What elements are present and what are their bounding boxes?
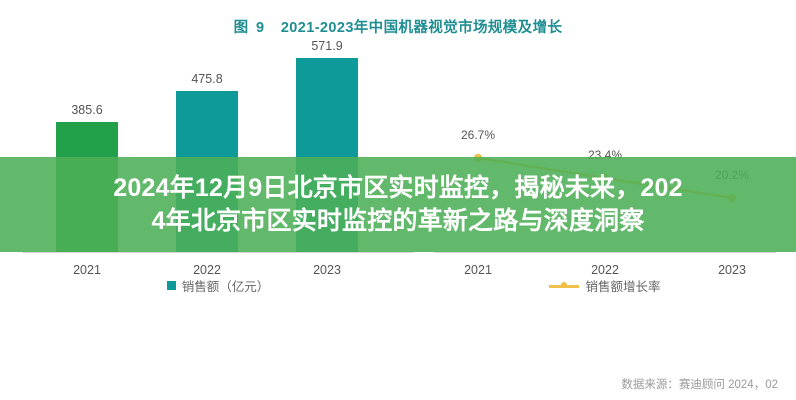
line-xtick-2022: 2022 bbox=[560, 263, 650, 277]
bar-value-2021: 385.6 bbox=[42, 103, 132, 117]
bar-value-2022: 475.8 bbox=[162, 72, 252, 86]
bar-xtick-2022: 2022 bbox=[162, 263, 252, 277]
bar-legend-swatch-icon bbox=[167, 281, 176, 290]
line-legend-swatch-icon bbox=[549, 281, 579, 290]
line-xtick-2023: 2023 bbox=[687, 263, 777, 277]
line-xtick-2021: 2021 bbox=[433, 263, 523, 277]
chart-page: 图 9 2021-2023年中国机器视觉市场规模及增长 385.6 475.8 … bbox=[0, 0, 796, 400]
bar-axis-line bbox=[22, 252, 414, 253]
overlay-headline-line-2: 4年北京市区实时监控的革新之路与深度洞察 bbox=[152, 205, 645, 238]
bar-value-2023: 571.9 bbox=[282, 39, 372, 53]
line-legend: 销售额增长率 bbox=[430, 276, 780, 295]
figure-label: 图 bbox=[234, 16, 249, 37]
source-note: 数据来源：赛迪顾问 2024，02 bbox=[621, 376, 778, 392]
bar-xtick-2021: 2021 bbox=[42, 263, 132, 277]
line-value-2021: 26.7% bbox=[443, 128, 513, 142]
figure-title-text: 2021-2023年中国机器视觉市场规模及增长 bbox=[281, 20, 563, 36]
line-legend-label: 销售额增长率 bbox=[585, 276, 660, 295]
bar-legend-label: 销售额（亿元） bbox=[182, 276, 270, 295]
overlay-headline-line-1: 2024年12月9日北京市区实时监控，揭秘未来，202 bbox=[113, 172, 682, 205]
bar-xtick-2023: 2023 bbox=[282, 263, 372, 277]
bar-legend: 销售额（亿元） bbox=[18, 276, 418, 295]
line-axis-line bbox=[434, 252, 776, 253]
figure-number: 9 bbox=[256, 20, 264, 36]
figure-title: 图 9 2021-2023年中国机器视觉市场规模及增长 bbox=[0, 16, 796, 37]
overlay-headline: 2024年12月9日北京市区实时监控，揭秘未来，202 4年北京市区实时监控的革… bbox=[0, 160, 796, 250]
